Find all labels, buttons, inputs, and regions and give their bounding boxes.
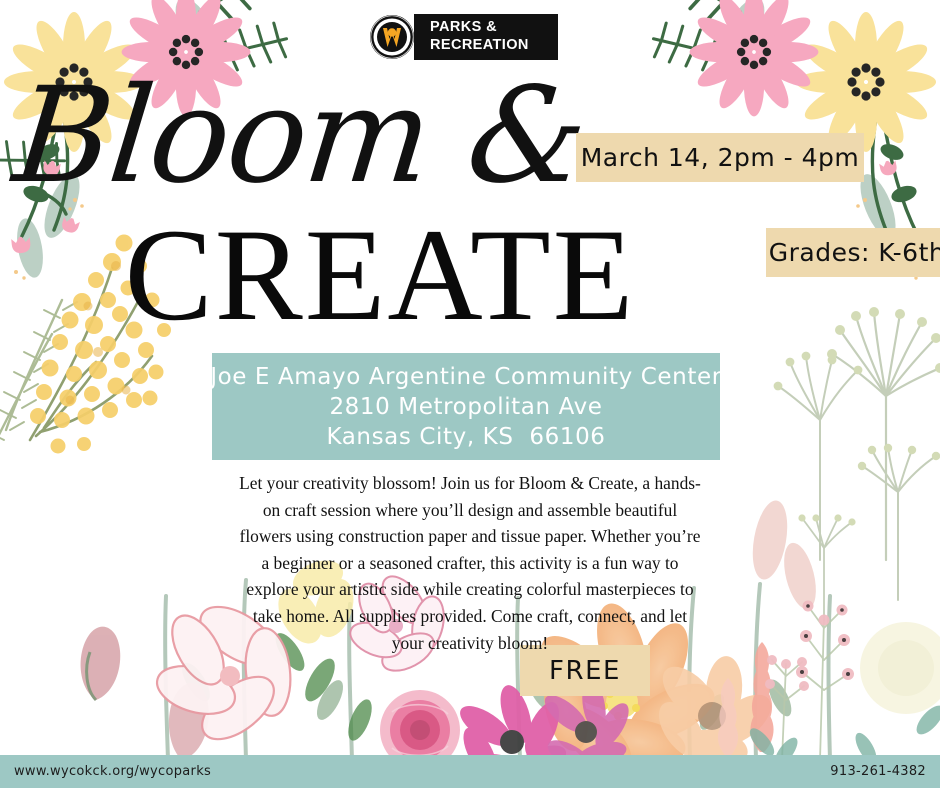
headline-script: Bloom & bbox=[0, 70, 607, 202]
event-description: Let your creativity blossom! Join us for… bbox=[235, 470, 705, 656]
location-street: 2810 Metropolitan Ave bbox=[329, 392, 602, 422]
unified-government-seal-icon bbox=[368, 14, 420, 60]
poster-canvas: PARKS & RECREATION Bloom & CREATE March … bbox=[0, 0, 940, 788]
footer-phone[interactable]: 913-261-4382 bbox=[830, 764, 926, 779]
logo-line-2: RECREATION bbox=[430, 37, 529, 55]
logo-line-1: PARKS & bbox=[430, 19, 529, 37]
location-venue: Joe E Amayo Argentine Community Center bbox=[210, 362, 722, 392]
date-time-banner: March 14, 2pm - 4pm bbox=[576, 133, 864, 182]
headline-main: CREATE bbox=[0, 212, 760, 338]
footer-bar: www.wycokck.org/wycoparks 913-261-4382 bbox=[0, 755, 940, 788]
logo-wordmark: PARKS & RECREATION bbox=[430, 19, 529, 54]
location-city-state-zip: Kansas City, KS 66106 bbox=[326, 422, 605, 452]
footer-website[interactable]: www.wycokck.org/wycoparks bbox=[14, 764, 211, 779]
location-block: Joe E Amayo Argentine Community Center 2… bbox=[212, 353, 720, 460]
parks-and-recreation-logo: PARKS & RECREATION bbox=[368, 14, 558, 60]
grades-banner: Grades: K-6th bbox=[766, 228, 940, 277]
